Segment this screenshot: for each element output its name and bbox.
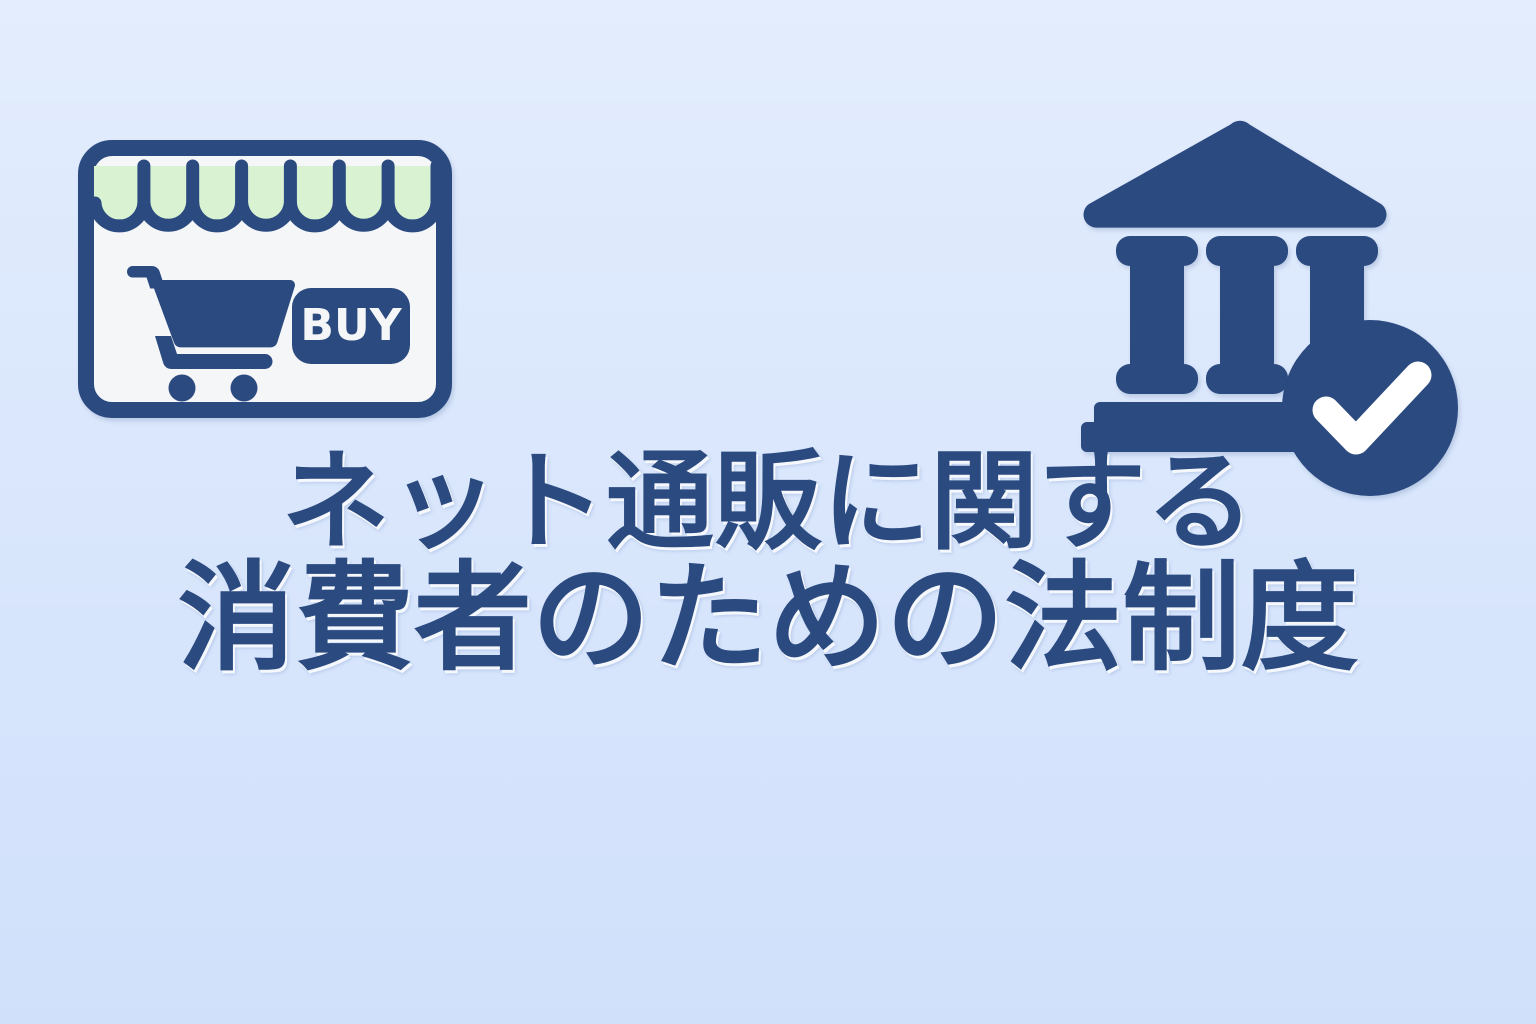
- bank-column-2: [1206, 236, 1288, 394]
- storefront-awning: [94, 166, 437, 226]
- page-title-line-2: 消費者のための法制度: [0, 556, 1536, 681]
- buy-button-label: BUY: [300, 300, 402, 351]
- bank-roof-pediment: [1084, 121, 1387, 228]
- poster-canvas: BUY: [0, 0, 1536, 1024]
- online-shop-storefront-icon: BUY: [78, 140, 452, 418]
- bank-column-1: [1116, 236, 1198, 394]
- page-title: ネット通販に関する 消費者のための法制度: [0, 446, 1536, 682]
- page-title-line-1: ネット通販に関する: [0, 446, 1536, 560]
